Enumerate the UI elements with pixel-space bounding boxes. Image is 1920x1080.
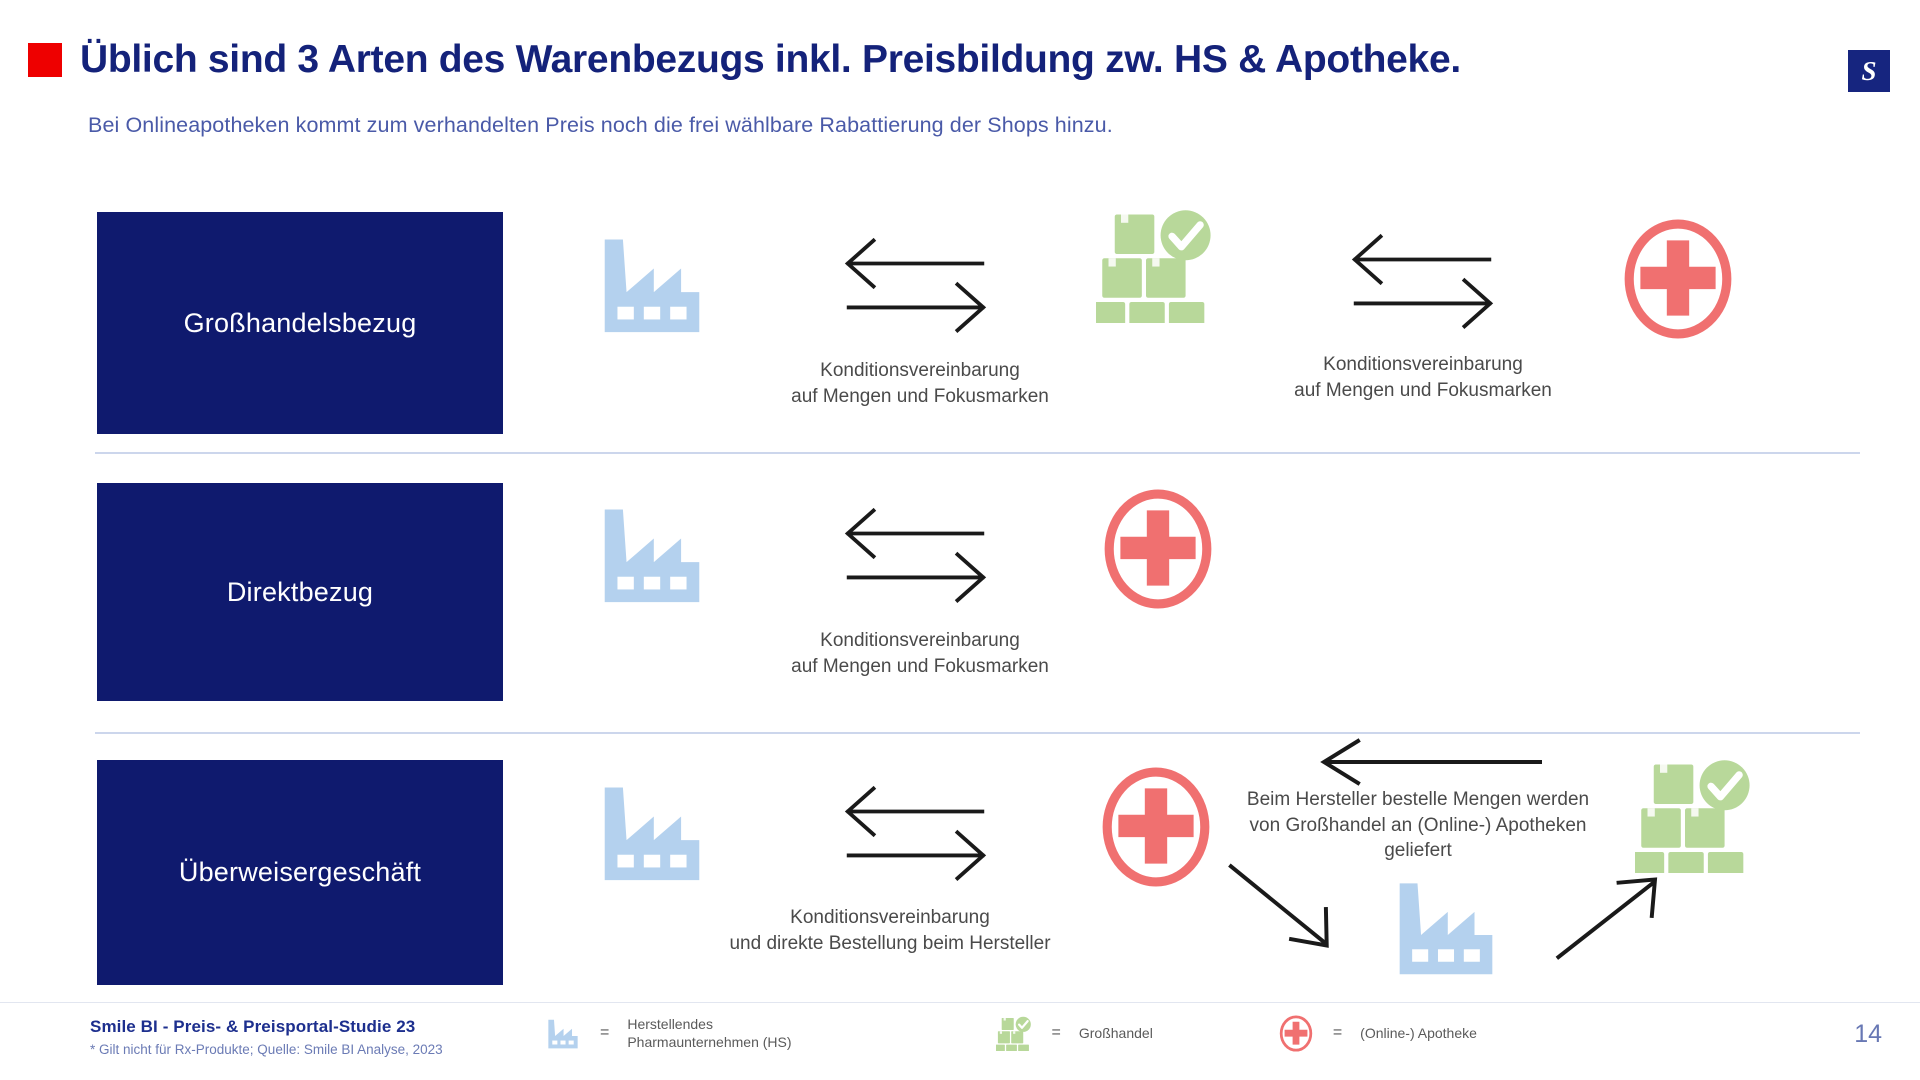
row-divider	[95, 732, 1860, 734]
arrow-up-right-icon	[1540, 870, 1675, 965]
footer-source-note: * Gilt nicht für Rx-Produkte; Quelle: Sm…	[90, 1042, 443, 1057]
legend-equals: =	[600, 1024, 609, 1042]
pharmacy-cross-icon	[1102, 488, 1214, 610]
page-subtitle: Bei Onlineapotheken kommt zum verhandelt…	[88, 113, 1113, 138]
delivery-caption: Beim Hersteller bestelle Mengen werden v…	[1213, 787, 1623, 864]
factory-icon	[597, 504, 707, 604]
factory-icon	[597, 782, 707, 882]
footer-brand: Smile BI - Preis- & Preisportal-Studie 2…	[90, 1017, 415, 1037]
legend-equals: =	[1333, 1024, 1342, 1042]
row-direktbezug: Direktbezug Konditionsvereinbarung auf M…	[0, 470, 1920, 710]
legend-item-apotheke: = (Online-) Apotheke	[1273, 1012, 1477, 1054]
pharmacy-cross-icon	[1100, 766, 1212, 888]
return-arrow-left-icon	[1313, 737, 1545, 787]
pharmacy-cross-icon	[1273, 1012, 1319, 1054]
row-divider	[95, 452, 1860, 454]
flow-caption: Konditionsvereinbarung und direkte Beste…	[680, 905, 1100, 956]
boxes-icon	[1635, 758, 1760, 873]
exchange-arrows-icon	[838, 780, 993, 885]
flow-caption: Konditionsvereinbarung auf Mengen und Fo…	[775, 358, 1065, 409]
arrow-down-right-icon	[1215, 860, 1345, 955]
factory-icon	[597, 234, 707, 334]
page-title: Üblich sind 3 Arten des Warenbezugs inkl…	[80, 38, 1461, 82]
flow-caption: Konditionsvereinbarung auf Mengen und Fo…	[775, 628, 1065, 679]
exchange-arrows-icon	[1345, 228, 1500, 333]
slide: Üblich sind 3 Arten des Warenbezugs inkl…	[0, 0, 1920, 1080]
legend-item-hersteller: = Herstellendes Pharmaunternehmen (HS)	[540, 1012, 792, 1054]
legend-equals: =	[1052, 1024, 1061, 1042]
flow-caption: Konditionsvereinbarung auf Mengen und Fo…	[1278, 352, 1568, 403]
legend: = Herstellendes Pharmaunternehmen (HS) =…	[540, 1012, 1477, 1054]
row-label-box: Großhandelsbezug	[97, 212, 503, 434]
brand-logo: S	[1848, 50, 1890, 92]
boxes-icon	[1096, 208, 1221, 323]
factory-icon	[540, 1012, 586, 1054]
row-grosshandelsbezug: Großhandelsbezug Konditionsvereinbarung …	[0, 200, 1920, 440]
legend-item-grosshandel: = Großhandel	[992, 1012, 1153, 1054]
page-number: 14	[1854, 1020, 1882, 1049]
row-ueberweisergeschaeft: Überweisergeschäft Konditionsvereinbarun…	[0, 750, 1920, 1000]
row-label-box: Direktbezug	[97, 483, 503, 701]
footer-divider	[0, 1002, 1920, 1003]
slide-header: Üblich sind 3 Arten des Warenbezugs inkl…	[28, 38, 1896, 82]
title-bullet-icon	[28, 43, 62, 77]
legend-label: Großhandel	[1079, 1024, 1153, 1042]
boxes-icon	[992, 1012, 1038, 1054]
legend-label: (Online-) Apotheke	[1360, 1024, 1477, 1042]
exchange-arrows-icon	[838, 232, 993, 337]
pharmacy-cross-icon	[1622, 218, 1734, 340]
row-label-box: Überweisergeschäft	[97, 760, 503, 985]
legend-label: Herstellendes Pharmaunternehmen (HS)	[627, 1015, 791, 1051]
exchange-arrows-icon	[838, 502, 993, 607]
factory-icon	[1392, 878, 1500, 976]
